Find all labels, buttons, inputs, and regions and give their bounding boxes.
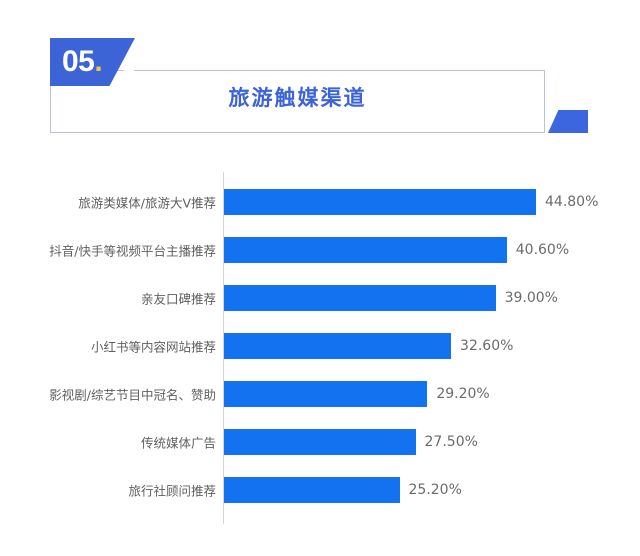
bar-category-label: 抖音/快手等视频平台主播推荐 [49, 241, 216, 260]
bar [224, 429, 416, 455]
bar-value-label: 44.80% [545, 194, 598, 210]
bar-value-label: 40.60% [516, 242, 569, 258]
bar-category-label: 传统媒体广告 [141, 433, 216, 452]
bar [224, 189, 536, 215]
bar-chart: 旅游类媒体/旅游大V推荐44.80%抖音/快手等视频平台主播推荐40.60%亲友… [0, 160, 640, 540]
bar-category-label: 旅行社顾问推荐 [128, 481, 216, 500]
bar-row: 旅游类媒体/旅游大V推荐44.80% [0, 178, 640, 226]
section-header: 05. 旅游触媒渠道 [0, 0, 640, 150]
bar-row: 抖音/快手等视频平台主播推荐40.60% [0, 226, 640, 274]
bar [224, 381, 427, 407]
bar [224, 237, 507, 263]
bar-row: 旅行社顾问推荐25.20% [0, 466, 640, 514]
bar-row: 小红书等内容网站推荐32.60% [0, 322, 640, 370]
bar-value-label: 39.00% [505, 290, 558, 306]
bar-category-label: 旅游类媒体/旅游大V推荐 [78, 193, 216, 212]
bar-value-label: 32.60% [460, 338, 513, 354]
header-accent-parallelogram [548, 110, 588, 133]
bar-row: 影视剧/综艺节目中冠名、赞助29.20% [0, 370, 640, 418]
bar-and-value: 27.50% [224, 429, 478, 455]
bar-rows: 旅游类媒体/旅游大V推荐44.80%抖音/快手等视频平台主播推荐40.60%亲友… [0, 178, 640, 514]
bar [224, 477, 400, 503]
bar-row: 传统媒体广告27.50% [0, 418, 640, 466]
bar-and-value: 39.00% [224, 285, 558, 311]
bar-and-value: 44.80% [224, 189, 598, 215]
bar-and-value: 40.60% [224, 237, 569, 263]
bar [224, 285, 496, 311]
bar-row: 亲友口碑推荐39.00% [0, 274, 640, 322]
bar-value-label: 25.20% [409, 482, 462, 498]
bar-category-label: 亲友口碑推荐 [141, 289, 216, 308]
section-number-dot: . [94, 45, 102, 78]
bar-category-label: 小红书等内容网站推荐 [91, 337, 216, 356]
bar-and-value: 25.20% [224, 477, 462, 503]
page-title: 旅游触媒渠道 [50, 82, 545, 112]
bar [224, 333, 451, 359]
bar-value-label: 27.50% [425, 434, 478, 450]
section-number: 05 [62, 45, 94, 78]
bar-and-value: 29.20% [224, 381, 490, 407]
bar-category-label: 影视剧/综艺节目中冠名、赞助 [49, 385, 216, 404]
bar-and-value: 32.60% [224, 333, 513, 359]
bar-value-label: 29.20% [436, 386, 489, 402]
